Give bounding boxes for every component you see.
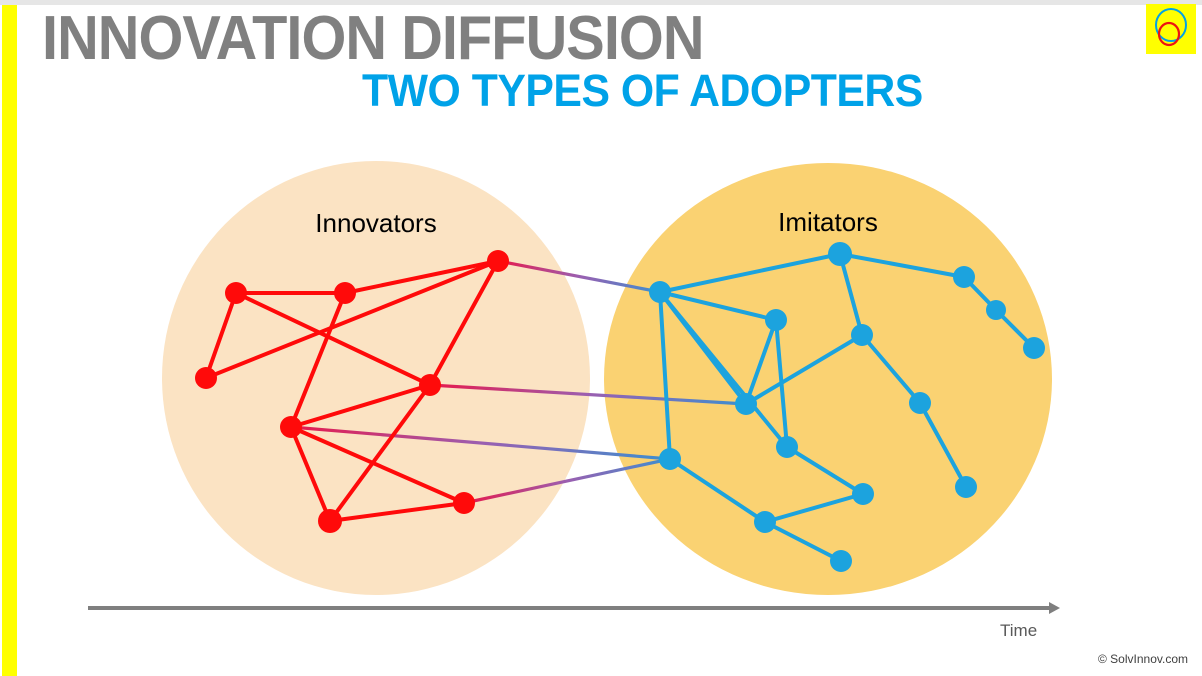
network-node-innovators[interactable] — [225, 282, 247, 304]
axis-label-time: Time — [1000, 621, 1037, 641]
page-title: INNOVATION DIFFUSION — [42, 8, 704, 70]
network-node-imitators[interactable] — [765, 309, 787, 331]
network-node-imitators[interactable] — [851, 324, 873, 346]
time-axis-layer — [88, 602, 1060, 614]
copyright-notice: © SolvInnov.com — [1098, 652, 1188, 666]
group-label-imitators: Imitators — [728, 207, 928, 238]
network-node-innovators[interactable] — [318, 509, 342, 533]
network-node-imitators[interactable] — [754, 511, 776, 533]
network-node-imitators[interactable] — [909, 392, 931, 414]
page-subtitle: TWO TYPES OF ADOPTERS — [362, 68, 923, 113]
network-node-imitators[interactable] — [852, 483, 874, 505]
network-node-imitators[interactable] — [828, 242, 852, 266]
slide-canvas: INNOVATION DIFFUSION TWO TYPES OF ADOPTE… — [0, 0, 1202, 676]
network-node-innovators[interactable] — [487, 250, 509, 272]
network-node-imitators[interactable] — [955, 476, 977, 498]
network-node-imitators[interactable] — [649, 281, 671, 303]
network-node-imitators[interactable] — [735, 393, 757, 415]
time-axis-arrowhead — [1049, 602, 1060, 614]
network-node-innovators[interactable] — [419, 374, 441, 396]
network-node-imitators[interactable] — [659, 448, 681, 470]
solvinnov-logo-icon[interactable] — [1146, 4, 1196, 54]
network-node-imitators[interactable] — [986, 300, 1006, 320]
network-node-innovators[interactable] — [280, 416, 302, 438]
network-node-imitators[interactable] — [1023, 337, 1045, 359]
group-label-innovators: Innovators — [276, 208, 476, 239]
network-node-imitators[interactable] — [776, 436, 798, 458]
network-node-innovators[interactable] — [453, 492, 475, 514]
network-node-imitators[interactable] — [830, 550, 852, 572]
network-node-innovators[interactable] — [334, 282, 356, 304]
network-node-innovators[interactable] — [195, 367, 217, 389]
network-node-imitators[interactable] — [953, 266, 975, 288]
